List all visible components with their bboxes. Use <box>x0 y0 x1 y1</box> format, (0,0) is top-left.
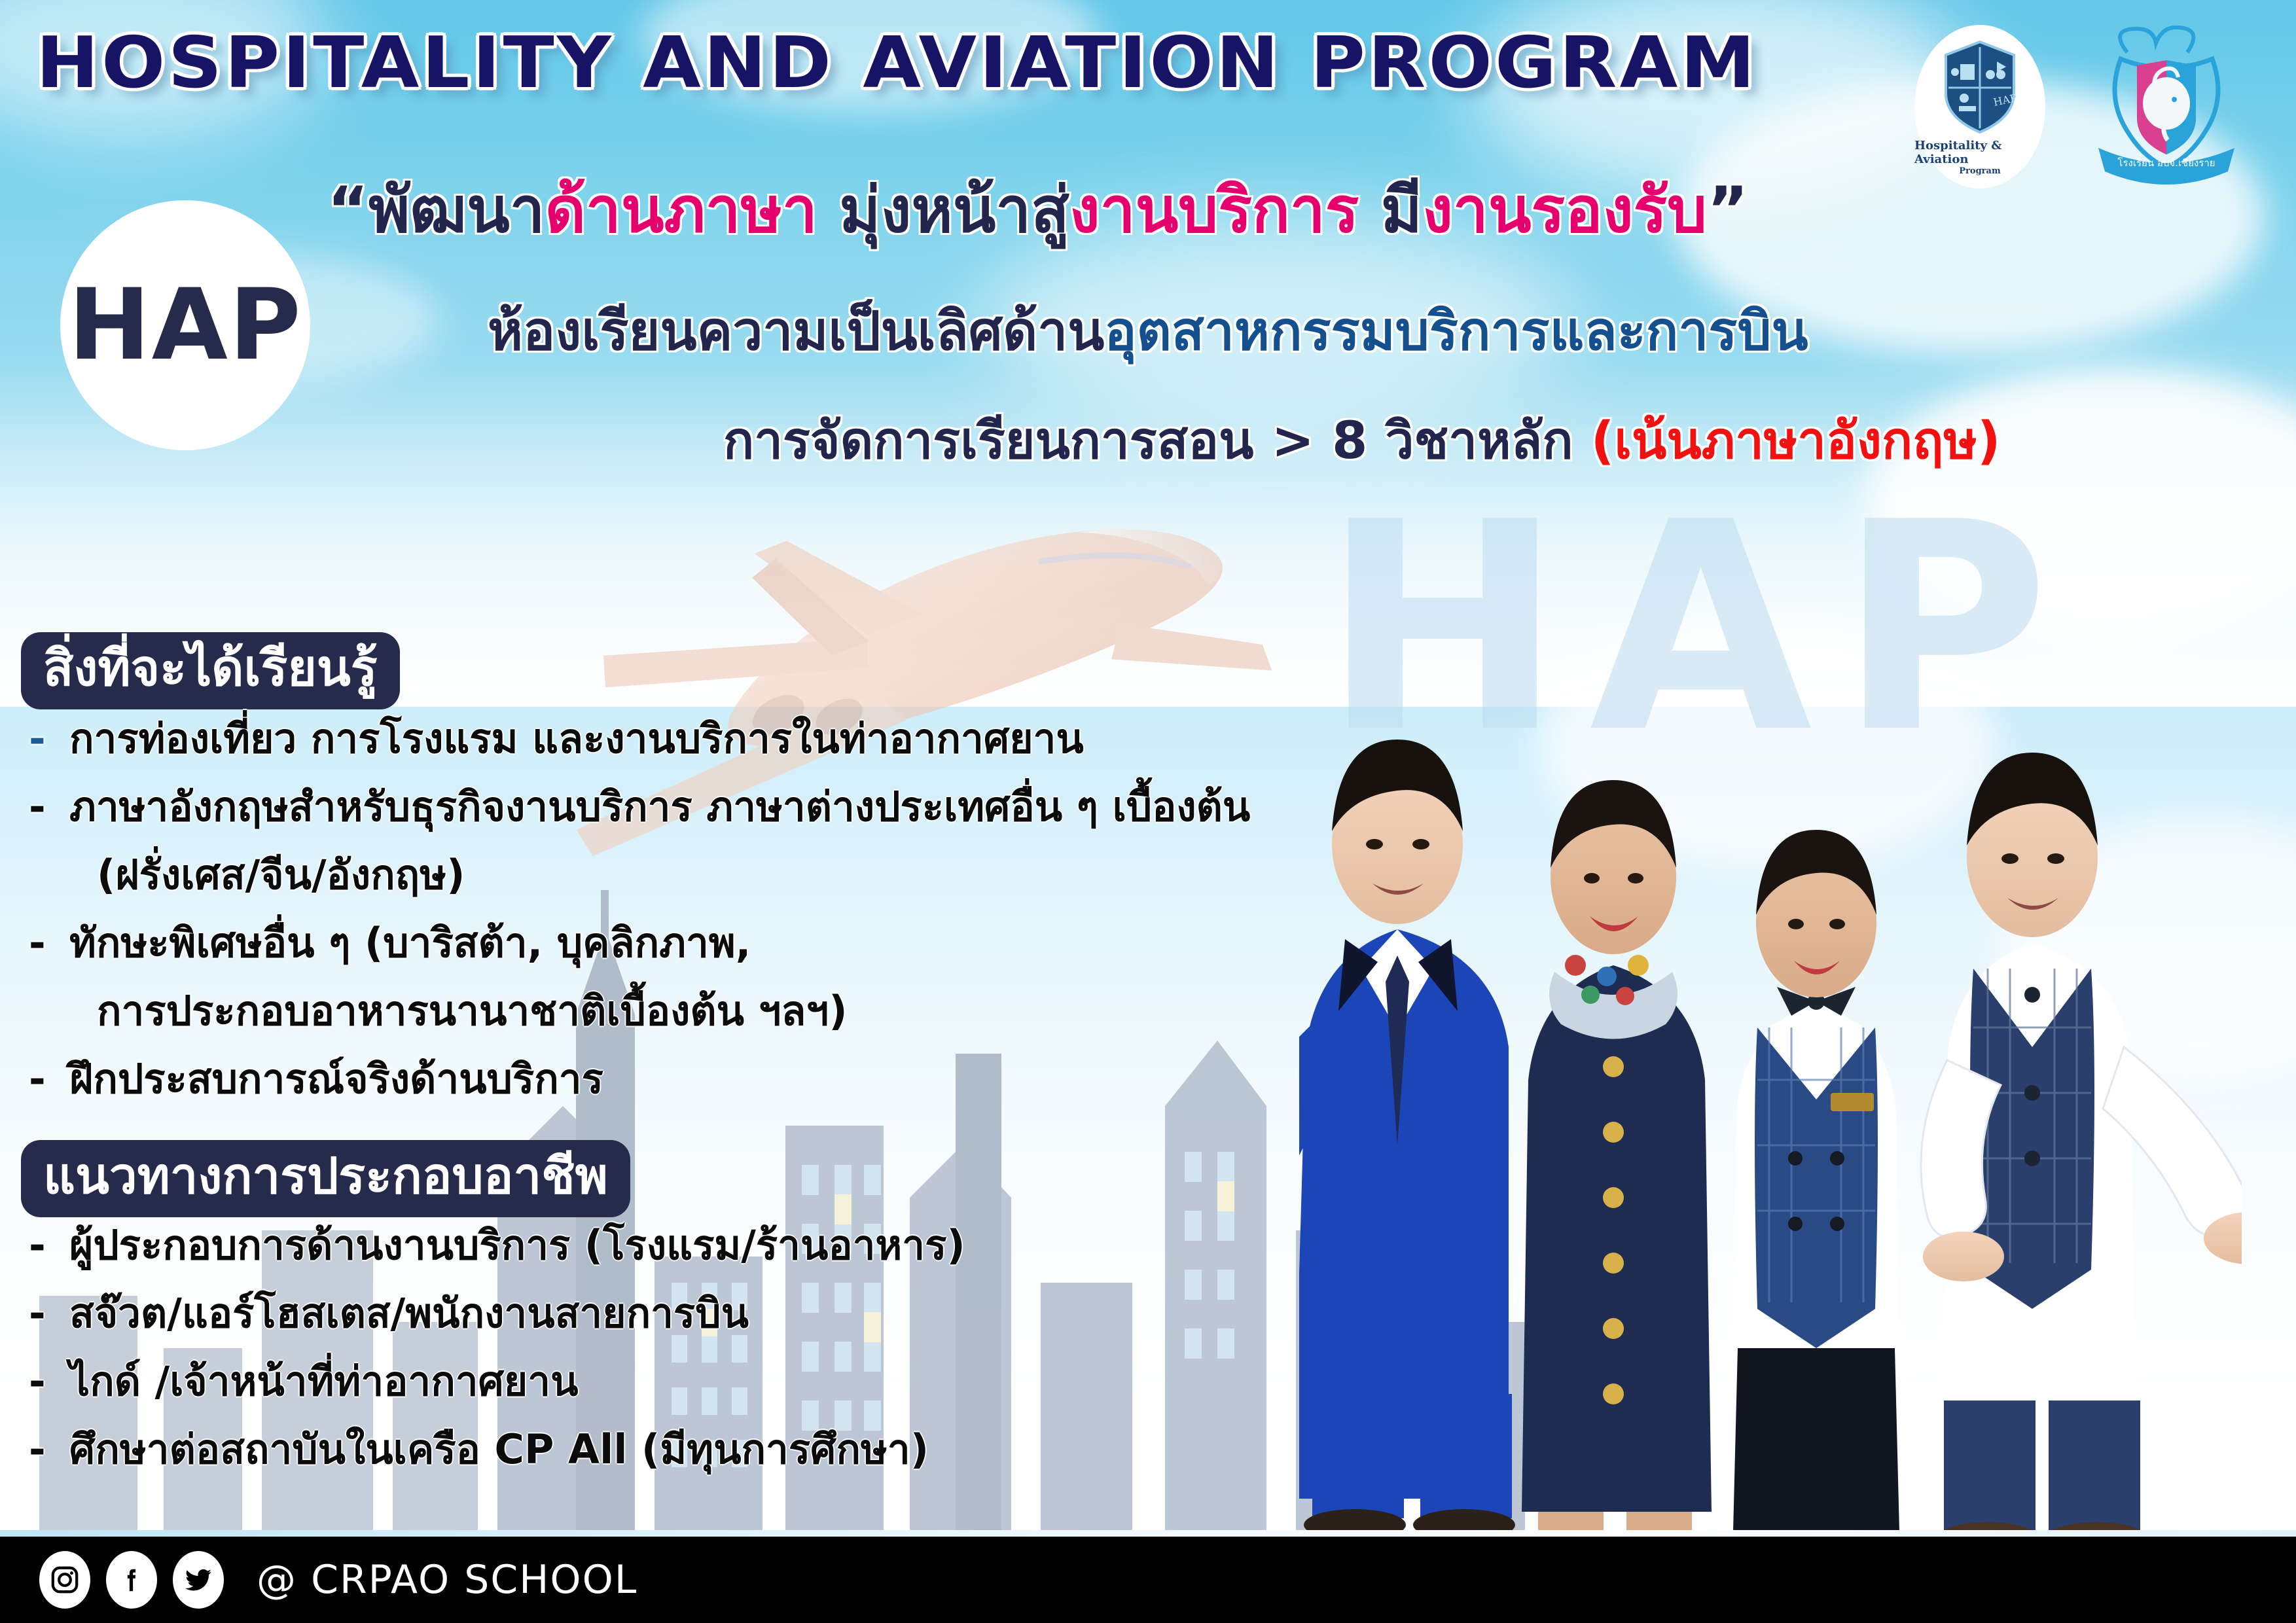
bullet-dash: - <box>29 923 69 963</box>
list-item-text: สจ๊วต/แอร์โฮสเตส/พนักงานสายการบิน <box>69 1293 1181 1334</box>
list-item-text: ทักษะพิเศษอื่น ๆ (บาริสต้า, บุคลิกภาพ, <box>69 923 1181 963</box>
tagline-seg3: มุ่งหน้าสู่ <box>817 173 1069 247</box>
hap-logo-caption: Hospitality & Aviation <box>1914 139 2045 166</box>
list-item: - สจ๊วต/แอร์โฮสเตส/พนักงานสายการบิน <box>29 1293 1181 1334</box>
section-heading-learn: สิ่งที่จะได้เรียนรู้ <box>21 632 400 709</box>
page-title: HOSPITALITY AND AVIATION PROGRAM <box>36 22 1758 104</box>
facebook-icon[interactable] <box>106 1551 157 1609</box>
tagline-seg5: มี <box>1359 173 1422 247</box>
career-list: - ผู้ประกอบการด้านงานบริการ (โรงแรม/ร้าน… <box>29 1225 1181 1497</box>
bullet-dash: - <box>29 1429 69 1470</box>
tagline-seg4: งานบริการ <box>1069 173 1359 247</box>
tagline-seg1: พัฒนา <box>368 173 545 247</box>
subtitle3-navy: การจัดการเรียนการสอน > 8 วิชาหลัก <box>723 412 1591 471</box>
subtitle2-blue: อุตสาหกรรมบริการและการบิน <box>1104 300 1808 363</box>
crpao-school-logo: โรงเรียน อบจ.เชียงราย <box>2081 20 2251 190</box>
subtitle-line-3: การจัดการเรียนการสอน > 8 วิชาหลัก (เน้นภ… <box>723 414 2098 470</box>
student-2 <box>1522 780 1712 1538</box>
student-3 <box>1731 830 1902 1538</box>
shield-icon: HAP <box>1941 38 2019 136</box>
section-heading-career: แนวทางการประกอบอาชีพ <box>21 1140 630 1217</box>
facebook-glyph <box>117 1565 147 1595</box>
tagline: “พัฒนาด้านภาษา มุ่งหน้าสู่งานบริการ มีงา… <box>327 175 1898 246</box>
list-item: การประกอบอาหารนานาชาติเบื้องต้น ฯลฯ) <box>97 991 1181 1031</box>
list-item-text: ฝึกประสบการณ์จริงด้านบริการ <box>69 1059 1181 1099</box>
subtitle3-red: (เน้นภาษาอังกฤษ) <box>1591 412 2001 471</box>
subtitle2-navy: ห้องเรียนความเป็นเลิศด้าน <box>488 300 1104 363</box>
bullet-dash: - <box>29 1225 69 1266</box>
list-item-text: การประกอบอาหารนานาชาติเบื้องต้น ฯลฯ) <box>97 991 1181 1031</box>
tagline-seg6: งานรองรับ <box>1422 173 1707 247</box>
bullet-dash: - <box>29 1361 69 1402</box>
list-item: (ฝรั่งเศส/จีน/อังกฤษ) <box>97 855 1181 895</box>
list-item: - การท่องเที่ยว การโรงแรม และงานบริการใน… <box>29 719 1181 759</box>
list-item: - ศึกษาต่อสถาบันในเครือ CP All (มีทุนการ… <box>29 1429 1181 1470</box>
school-crest-icon: โรงเรียน อบจ.เชียงราย <box>2081 20 2251 190</box>
bullet-dash: - <box>29 1059 69 1099</box>
bullet-dash: - <box>29 787 69 827</box>
hap-logo-subcaption: Program <box>1959 166 2000 176</box>
list-item: - ไกด์ /เจ้าหน้าที่ท่าอากาศยาน <box>29 1361 1181 1402</box>
social-footer: @ CRPAO SCHOOL <box>0 1537 2296 1623</box>
hap-badge: HAP <box>60 200 310 450</box>
tagline-close-quote: ” <box>1707 173 1748 247</box>
tagline-seg2: ด้านภาษา <box>545 173 817 247</box>
footer-divider-strip <box>0 1530 2296 1537</box>
list-item-text: ไกด์ /เจ้าหน้าที่ท่าอากาศยาน <box>69 1361 1181 1402</box>
social-handle: @ CRPAO SCHOOL <box>257 1557 637 1603</box>
subtitle-line-2: ห้องเรียนความเป็นเลิศด้านอุตสาหกรรมบริกา… <box>488 302 1993 361</box>
instagram-icon[interactable] <box>39 1551 90 1609</box>
list-item: - ภาษาอังกฤษสำหรับธุรกิจงานบริการ ภาษาต่… <box>29 787 1181 827</box>
bullet-dash: - <box>29 1293 69 1334</box>
list-item-text: ภาษาอังกฤษสำหรับธุรกิจงานบริการ ภาษาต่าง… <box>69 787 1250 827</box>
list-item-text: (ฝรั่งเศส/จีน/อังกฤษ) <box>97 855 1181 895</box>
bullet-dash: - <box>29 719 69 759</box>
tagline-open-quote: “ <box>327 173 368 247</box>
learn-list: - การท่องเที่ยว การโรงแรม และงานบริการใน… <box>29 719 1181 1127</box>
list-item: - ทักษะพิเศษอื่น ๆ (บาริสต้า, บุคลิกภาพ, <box>29 923 1181 963</box>
hap-badge-label: HAP <box>68 268 302 382</box>
hap-shield-logo: HAP Hospitality & Aviation Program <box>1914 25 2045 188</box>
student-4 <box>1921 753 2242 1538</box>
twitter-bird-glyph <box>183 1564 214 1596</box>
list-item-text: ศึกษาต่อสถาบันในเครือ CP All (มีทุนการศึ… <box>69 1429 1181 1470</box>
student-1 <box>1299 740 1515 1538</box>
list-item-text: ผู้ประกอบการด้านงานบริการ (โรงแรม/ร้านอา… <box>69 1225 1181 1266</box>
crest-ribbon-text: โรงเรียน อบจ.เชียงราย <box>2117 157 2215 169</box>
twitter-icon[interactable] <box>173 1551 224 1609</box>
instagram-glyph <box>50 1565 80 1595</box>
poster-root: HAP <box>0 0 2296 1623</box>
list-item: - ฝึกประสบการณ์จริงด้านบริการ <box>29 1059 1181 1099</box>
list-item-text: การท่องเที่ยว การโรงแรม และงานบริการในท่… <box>69 719 1181 759</box>
students-photo <box>1299 563 2242 1538</box>
list-item: - ผู้ประกอบการด้านงานบริการ (โรงแรม/ร้าน… <box>29 1225 1181 1266</box>
